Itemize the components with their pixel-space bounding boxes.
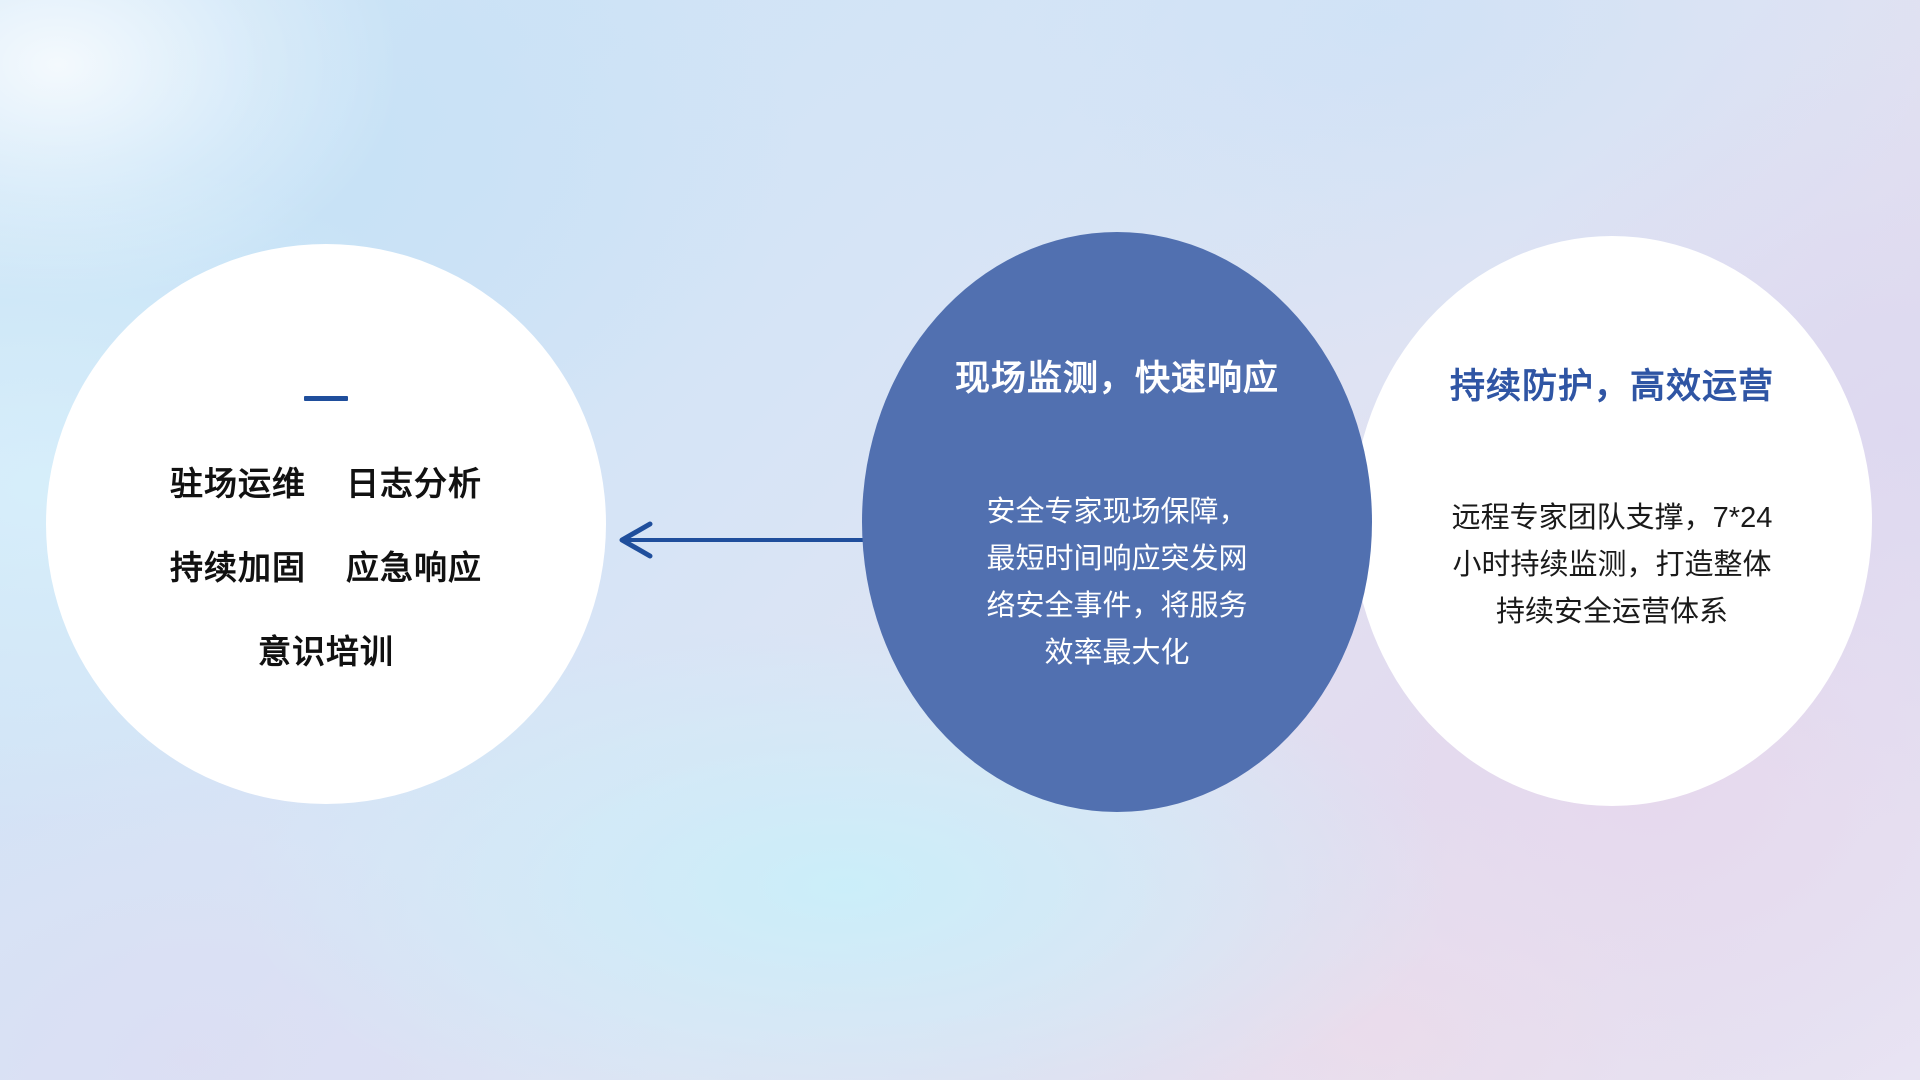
capability-row-1: 驻场运维 日志分析 <box>170 457 482 505</box>
middle-circle-body: 安全专家现场保障， 最短时间响应突发网 络安全事件，将服务 效率最大化 <box>952 489 1282 677</box>
body-line: 小时持续监测，打造整体 <box>1417 542 1807 589</box>
body-line: 效率最大化 <box>952 630 1282 677</box>
middle-circle-title: 现场监测，快速响应 <box>955 350 1279 401</box>
capability-tag: 应急响应 <box>346 541 482 589</box>
left-capability-circle: 驻场运维 日志分析 持续加固 应急响应 意识培训 <box>46 244 606 804</box>
right-service-circle: 持续防护，高效运营 远程专家团队支撑，7*24 小时持续监测，打造整体 持续安全… <box>1352 236 1872 806</box>
capability-tag: 持续加固 <box>170 541 306 589</box>
right-circle-body: 远程专家团队支撑，7*24 小时持续监测，打造整体 持续安全运营体系 <box>1417 495 1807 636</box>
body-line: 安全专家现场保障， <box>952 489 1282 536</box>
capability-tag: 日志分析 <box>346 457 482 505</box>
middle-service-circle: 现场监测，快速响应 安全专家现场保障， 最短时间响应突发网 络安全事件，将服务 … <box>862 232 1372 812</box>
capability-row-2: 持续加固 应急响应 <box>170 541 482 589</box>
right-circle-title: 持续防护，高效运营 <box>1450 358 1774 409</box>
slide-canvas: 驻场运维 日志分析 持续加固 应急响应 意识培训 持续防护，高效运营 远程专家团… <box>0 0 1920 1080</box>
body-line: 持续安全运营体系 <box>1417 589 1807 636</box>
body-line: 远程专家团队支撑，7*24 <box>1417 495 1807 542</box>
capability-tag: 驻场运维 <box>170 457 306 505</box>
body-line: 络安全事件，将服务 <box>952 583 1282 630</box>
capability-tag: 意识培训 <box>258 625 394 673</box>
divider-dash-icon <box>304 396 348 401</box>
body-line: 最短时间响应突发网 <box>952 536 1282 583</box>
connector-arrow <box>608 518 888 562</box>
capability-row-3: 意识培训 <box>258 625 394 673</box>
